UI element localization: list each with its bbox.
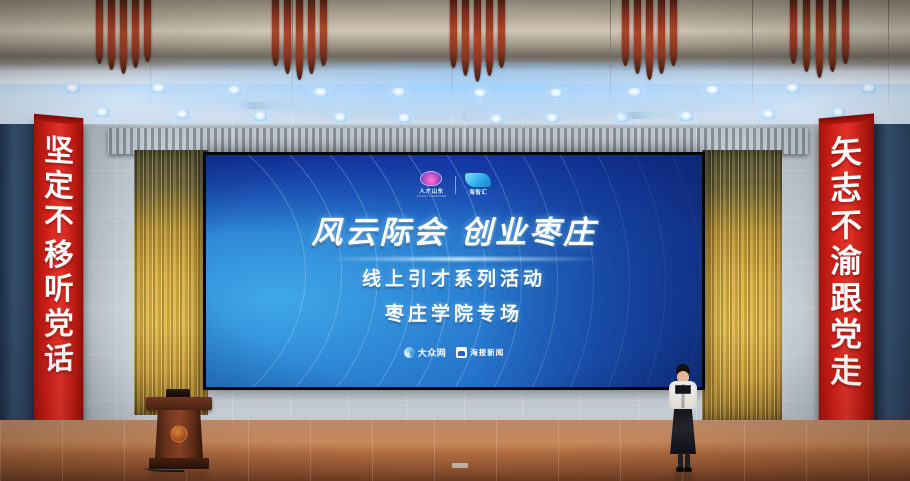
podium-top	[146, 397, 212, 410]
ceiling-light	[314, 88, 328, 97]
ceiling-light	[392, 88, 406, 97]
banner-right-char: 矢	[830, 137, 862, 169]
speaker-podium	[146, 391, 212, 473]
stage-curtain-right	[702, 150, 782, 422]
banner-left-char: 移	[44, 241, 74, 269]
podium-emblem	[171, 426, 188, 443]
banner-left: 坚 定 不 移 听 党 话	[34, 120, 83, 454]
led-screen: 人才山东 TALENT SHANDONG 海智汇 风云际会 创业枣庄 线上引才系…	[206, 155, 702, 387]
floor-gloss	[0, 420, 910, 481]
floor-object	[452, 463, 468, 468]
banner-right-char: 走	[830, 356, 862, 387]
ceiling-light	[176, 110, 189, 119]
ceiling-light	[680, 112, 693, 121]
ceiling-light	[254, 112, 267, 121]
ceiling-light	[546, 114, 559, 123]
ceiling-strip-light	[620, 112, 676, 119]
ceiling-wood-slats	[622, 0, 688, 68]
ceiling-light	[762, 110, 775, 119]
led-screen-frame: 人才山东 TALENT SHANDONG 海智汇 风云际会 创业枣庄 线上引才系…	[203, 152, 705, 390]
ceiling-wood-slats	[96, 0, 162, 68]
presenter-tablet	[675, 385, 691, 394]
banner-right-char: 志	[830, 173, 862, 204]
ceiling-light	[490, 115, 503, 124]
banner-left-char: 听	[44, 276, 74, 304]
ceiling-wood-slats	[790, 0, 860, 68]
ceiling-vent	[462, 114, 472, 121]
banner-right-char: 党	[830, 320, 862, 350]
auditorium-photo: 人才山东 TALENT SHANDONG 海智汇 风云际会 创业枣庄 线上引才系…	[0, 0, 910, 481]
ceiling-light	[474, 89, 487, 98]
presenter-leg	[685, 453, 690, 468]
ceiling-light	[228, 86, 241, 95]
ceiling-light	[862, 84, 876, 93]
ceiling-light	[786, 84, 800, 93]
banner-right-char: 不	[830, 210, 862, 241]
left-wall-pillar	[0, 124, 34, 424]
podium-cable	[144, 465, 184, 472]
presenter	[664, 364, 702, 478]
ceiling-light	[706, 86, 720, 95]
presenter-reflection	[674, 472, 692, 481]
ceiling-light	[152, 84, 166, 93]
ceiling-light	[334, 113, 347, 122]
right-wall-pillar	[874, 124, 910, 424]
banner-right-char: 渝	[830, 247, 862, 277]
podium-body	[155, 410, 203, 458]
presenter-skirt	[670, 409, 696, 454]
ceiling-strip-light	[240, 102, 298, 109]
banner-right-char: 跟	[830, 284, 862, 314]
ceiling-wood-slats	[272, 0, 338, 68]
banner-left-char: 坚	[44, 137, 74, 167]
ceiling	[0, 0, 910, 128]
ceiling-light	[398, 114, 411, 123]
banner-left-char: 党	[44, 311, 74, 339]
presenter-leg	[678, 453, 683, 468]
stage-curtain-left	[134, 150, 208, 415]
ceiling-light	[628, 88, 642, 97]
banner-left-char: 不	[44, 207, 74, 236]
ceiling-light	[96, 108, 109, 117]
stage-floor	[0, 420, 910, 481]
banner-left-char: 话	[44, 345, 74, 374]
ceiling-light	[66, 84, 80, 93]
screen-vignette	[206, 155, 702, 387]
banner-left-char: 定	[44, 172, 74, 201]
ceiling-light	[550, 89, 563, 98]
banner-right: 矢 志 不 渝 跟 党 走	[819, 119, 874, 462]
ceiling-wood-slats	[450, 0, 516, 68]
